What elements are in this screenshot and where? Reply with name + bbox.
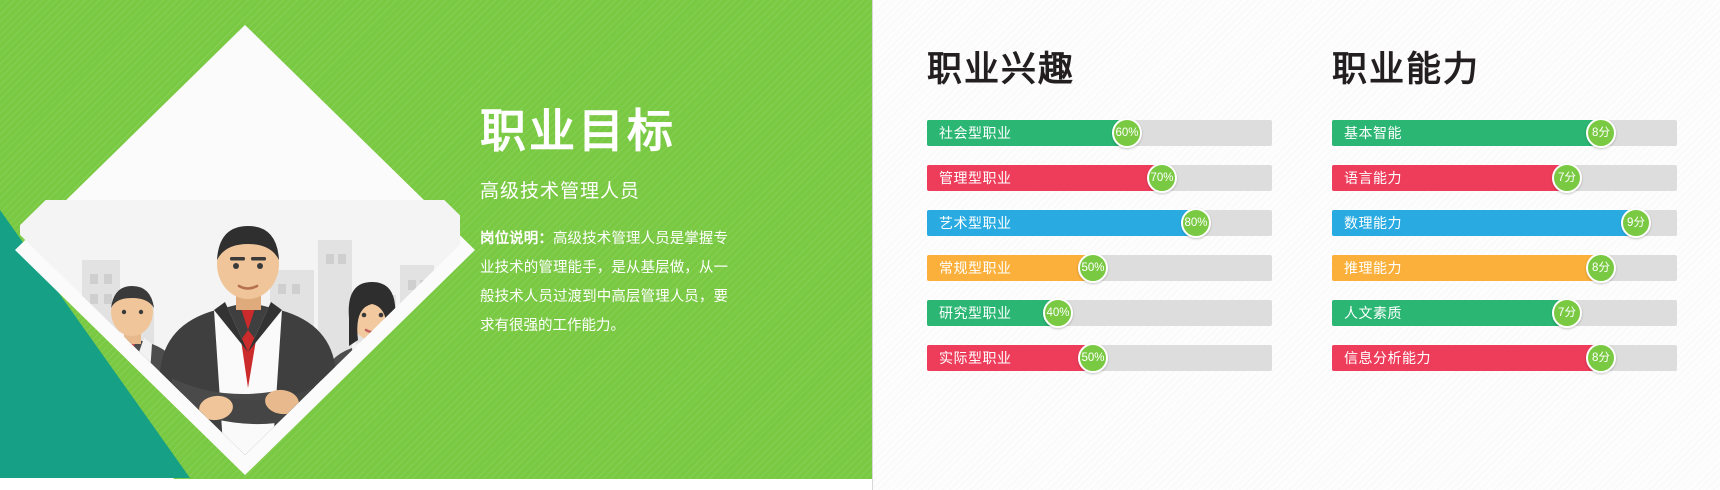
- bar-label: 信息分析能力: [1344, 345, 1431, 371]
- right-panel: 职业兴趣 社会型职业60%管理型职业70%艺术型职业80%常规型职业50%研究型…: [873, 0, 1720, 490]
- slide: 职业目标 高级技术管理人员 岗位说明：高级技术管理人员是掌握专业技术的管理能手，…: [0, 0, 1720, 490]
- bottom-white-strip: [0, 479, 872, 490]
- bar-value-bubble: 50%: [1078, 253, 1108, 283]
- career-interest-title: 职业兴趣: [927, 41, 1075, 92]
- bar-value-bubble: 80%: [1181, 208, 1211, 238]
- bar-label: 语言能力: [1344, 165, 1402, 191]
- bar-label: 常规型职业: [939, 255, 1012, 281]
- bar-value-bubble: 7分: [1552, 298, 1582, 328]
- bar-label: 实际型职业: [939, 345, 1012, 371]
- left-text-block: 职业目标 高级技术管理人员 岗位说明：高级技术管理人员是掌握专业技术的管理能手，…: [480, 108, 810, 341]
- bar-label: 研究型职业: [939, 300, 1012, 326]
- bar-value-bubble: 70%: [1147, 163, 1177, 193]
- bar-value-bubble: 8分: [1586, 343, 1616, 373]
- bar-label: 管理型职业: [939, 165, 1012, 191]
- page-title: 职业目标: [480, 108, 810, 154]
- bar-value-bubble: 60%: [1112, 118, 1142, 148]
- bar-value-bubble: 8分: [1586, 118, 1616, 148]
- career-ability-title: 职业能力: [1332, 41, 1480, 92]
- bar-label: 社会型职业: [939, 120, 1012, 146]
- bar-label: 推理能力: [1344, 255, 1402, 281]
- bar-value-bubble: 40%: [1043, 298, 1073, 328]
- left-panel: 职业目标 高级技术管理人员 岗位说明：高级技术管理人员是掌握专业技术的管理能手，…: [0, 0, 872, 490]
- bar-value-bubble: 9分: [1621, 208, 1651, 238]
- bar-label: 数理能力: [1344, 210, 1402, 236]
- bar-label: 人文素质: [1344, 300, 1402, 326]
- bar-value-bubble: 8分: [1586, 253, 1616, 283]
- job-description: 岗位说明：高级技术管理人员是掌握专业技术的管理能手，是从基层做，从一般技术人员过…: [480, 225, 728, 341]
- bar-value-bubble: 7分: [1552, 163, 1582, 193]
- bar-label: 艺术型职业: [939, 210, 1012, 236]
- bar-value-bubble: 50%: [1078, 343, 1108, 373]
- bar-label: 基本智能: [1344, 120, 1402, 146]
- job-description-label: 岗位说明：: [480, 231, 553, 247]
- business-people-illustration: [20, 140, 460, 490]
- page-subtitle: 高级技术管理人员: [480, 176, 810, 203]
